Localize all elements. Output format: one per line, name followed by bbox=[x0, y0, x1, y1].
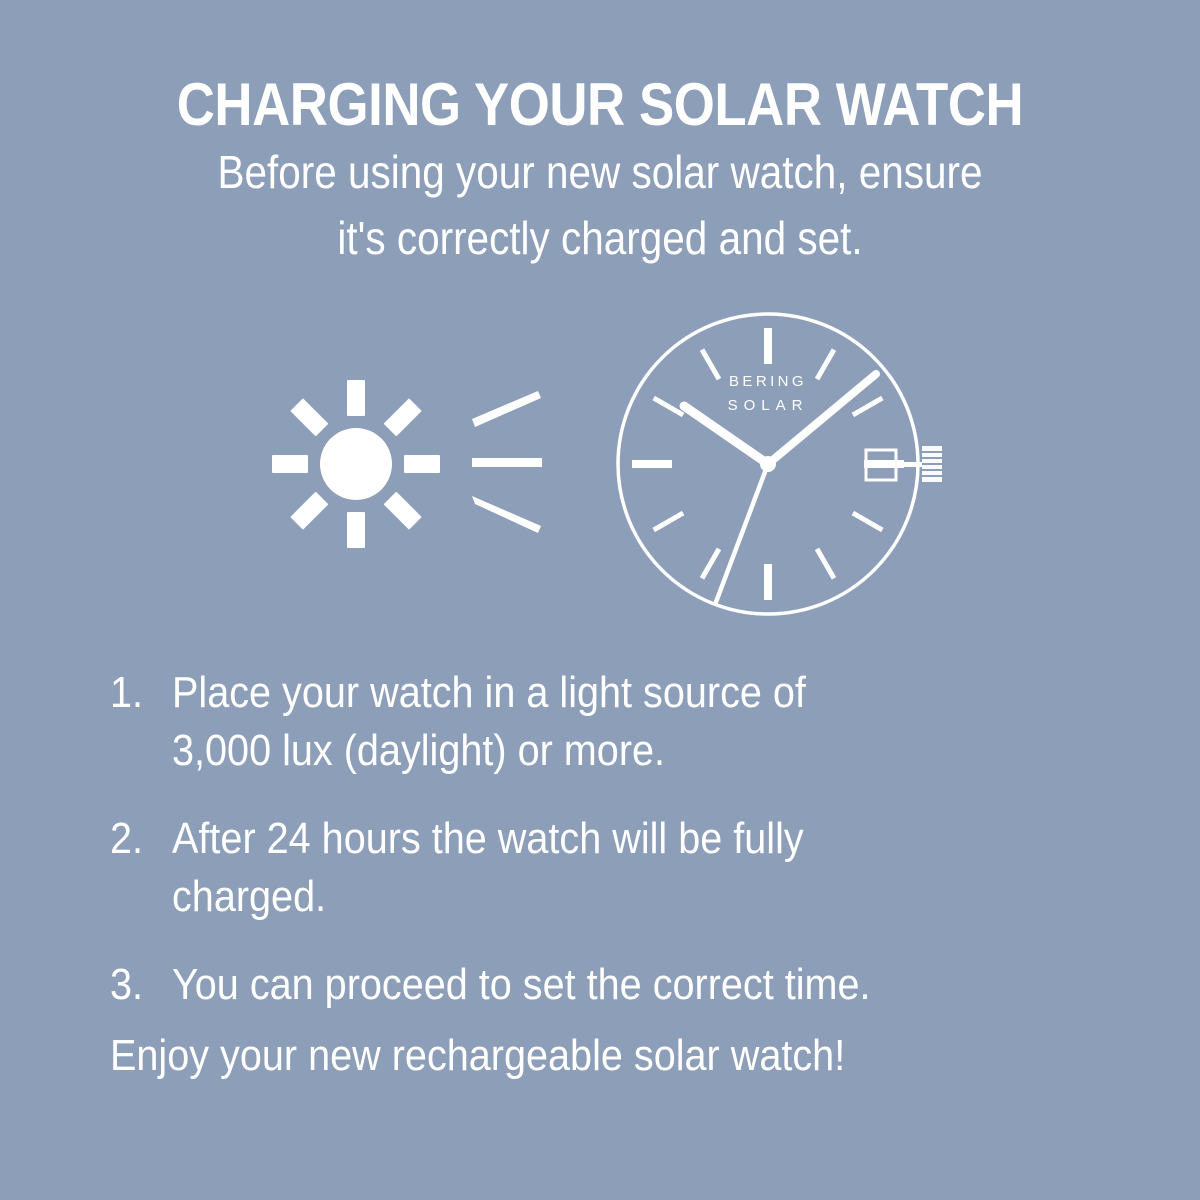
marker-11 bbox=[700, 348, 721, 380]
watch-model-text: SOLAR bbox=[728, 397, 809, 414]
marker-1 bbox=[815, 348, 836, 380]
marker-5 bbox=[815, 548, 836, 580]
step-number: 2. bbox=[110, 810, 166, 868]
sun-icon bbox=[272, 380, 440, 548]
header: CHARGING YOUR SOLAR WATCH Before using y… bbox=[0, 74, 1200, 268]
light-beam-lower bbox=[472, 496, 541, 533]
steps-list: 1. Place your watch in a light source of… bbox=[110, 664, 1070, 1044]
illustration: BERING SOLAR bbox=[0, 290, 1200, 630]
sun-ray-left bbox=[272, 455, 308, 473]
subtitle-line-2: it's correctly charged and set. bbox=[72, 208, 1128, 268]
charging-solar-watch-infographic: CHARGING YOUR SOLAR WATCH Before using y… bbox=[0, 0, 1200, 1200]
sun-ray-right bbox=[404, 455, 440, 473]
subtitle-line-1: Before using your new solar watch, ensur… bbox=[72, 142, 1128, 202]
light-beams-icon bbox=[472, 391, 542, 533]
sun-ray-bottom-left bbox=[290, 492, 328, 530]
marker-8 bbox=[652, 511, 684, 532]
solar-watch-icon: BERING SOLAR bbox=[618, 314, 942, 614]
sun-core bbox=[320, 428, 392, 500]
sun-ray-bottom bbox=[347, 512, 365, 548]
step-text: Place your watch in a light source of 3,… bbox=[172, 664, 892, 780]
hands-pivot bbox=[760, 456, 776, 472]
page-title: CHARGING YOUR SOLAR WATCH bbox=[72, 74, 1128, 136]
list-item: 3. You can proceed to set the correct ti… bbox=[110, 956, 1070, 1014]
step-number: 3. bbox=[110, 956, 166, 1014]
marker-12 bbox=[764, 328, 772, 364]
sun-ray-top bbox=[347, 380, 365, 416]
sun-ray-bottom-right bbox=[384, 492, 422, 530]
marker-2 bbox=[852, 396, 884, 417]
list-item: 1. Place your watch in a light source of… bbox=[110, 664, 1070, 780]
marker-4 bbox=[852, 511, 884, 532]
step-text: You can proceed to set the correct time. bbox=[172, 956, 892, 1014]
marker-6 bbox=[764, 564, 772, 600]
light-beam-middle bbox=[472, 458, 542, 467]
sun-ray-top-left bbox=[290, 398, 328, 436]
watch-crown bbox=[922, 446, 942, 482]
second-hand bbox=[716, 464, 768, 602]
crown-stem bbox=[896, 462, 922, 467]
hour-hand bbox=[684, 406, 768, 464]
marker-7 bbox=[700, 548, 721, 580]
step-number: 1. bbox=[110, 664, 166, 722]
list-item: 2. After 24 hours the watch will be full… bbox=[110, 810, 1070, 926]
light-beam-upper bbox=[472, 391, 541, 427]
marker-9 bbox=[632, 460, 672, 468]
closing-message: Enjoy your new rechargeable solar watch! bbox=[110, 1028, 1055, 1084]
sun-ray-top-right bbox=[384, 398, 422, 436]
watch-brand-text: BERING bbox=[729, 373, 807, 390]
step-text: After 24 hours the watch will be fully c… bbox=[172, 810, 892, 926]
